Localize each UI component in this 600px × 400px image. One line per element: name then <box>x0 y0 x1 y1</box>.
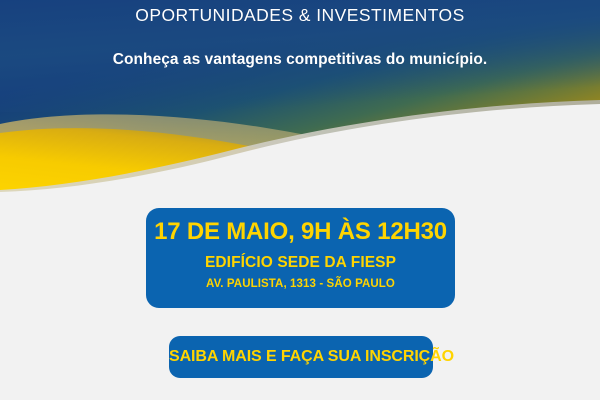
event-venue: EDIFÍCIO SEDE DA FIESP <box>146 246 455 272</box>
event-date-time: 17 DE MAIO, 9H ÀS 12H30 <box>146 218 455 246</box>
hero-wave-artwork <box>0 0 600 200</box>
register-cta-button[interactable]: SAIBA MAIS E FAÇA SUA INSCRIÇÃO <box>169 336 433 378</box>
event-info-card: 17 DE MAIO, 9H ÀS 12H30 EDIFÍCIO SEDE DA… <box>146 208 455 308</box>
event-address: AV. PAULISTA, 1313 - SÃO PAULO <box>146 273 455 292</box>
promo-banner: OPORTUNIDADES & INVESTIMENTOS Conheça as… <box>0 0 600 400</box>
